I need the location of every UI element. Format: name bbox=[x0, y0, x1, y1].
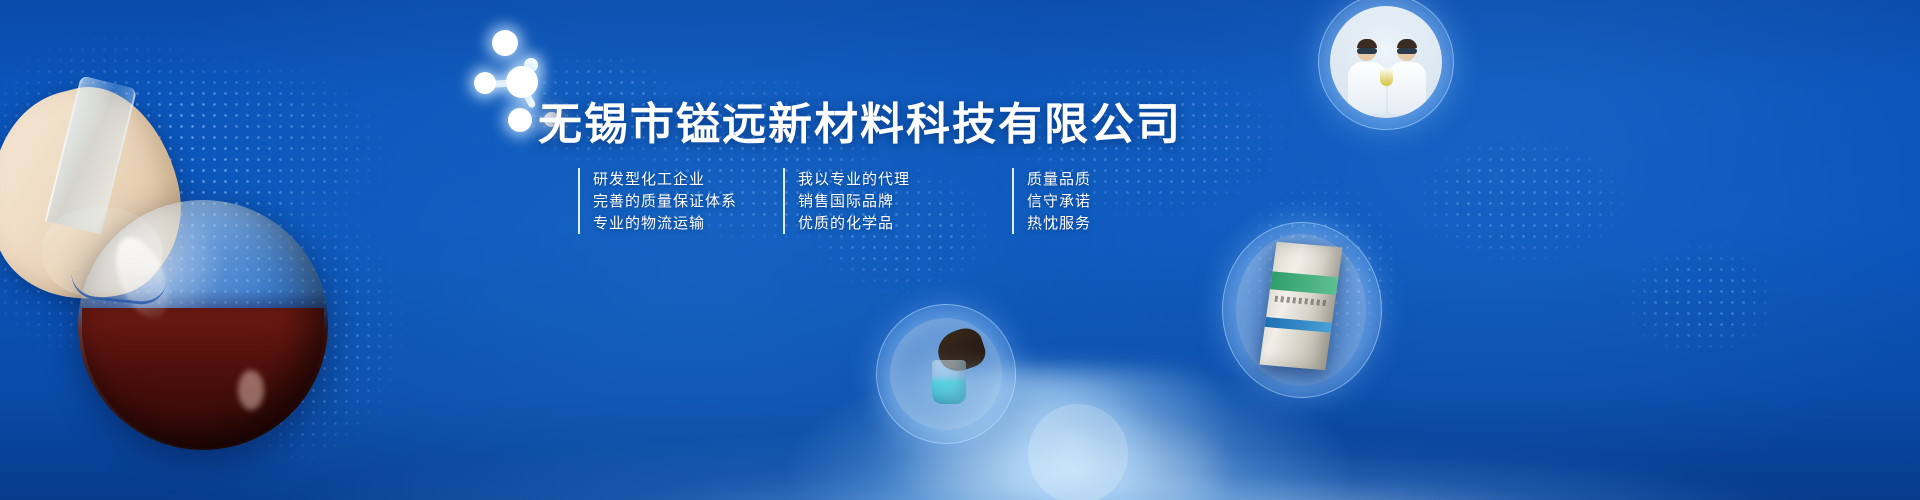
feature-columns: 研发型化工企业 完善的质量保证体系 专业的物流运输 我以专业的代理 销售国际品牌… bbox=[578, 168, 1123, 234]
light-sheen bbox=[880, 370, 1220, 500]
feature-line: 质量品质 bbox=[1027, 168, 1091, 190]
feature-column-2: 我以专业的代理 销售国际品牌 优质的化学品 bbox=[783, 168, 910, 234]
feature-column-3: 质量品质 信守承诺 热忱服务 bbox=[1012, 168, 1091, 234]
feature-line: 信守承诺 bbox=[1027, 190, 1091, 212]
company-banner: 无锡市镒远新材料科技有限公司 研发型化工企业 完善的质量保证体系 专业的物流运输… bbox=[0, 0, 1920, 500]
feature-line: 热忱服务 bbox=[1027, 212, 1091, 234]
feature-line: 研发型化工企业 bbox=[593, 168, 737, 190]
feature-column-1: 研发型化工企业 完善的质量保证体系 专业的物流运输 bbox=[578, 168, 737, 234]
page-title: 无锡市镒远新材料科技有限公司 bbox=[538, 88, 1182, 152]
feature-line: 优质的化学品 bbox=[798, 212, 910, 234]
feature-line: 我以专业的代理 bbox=[798, 168, 910, 190]
package-green-band bbox=[1270, 271, 1338, 295]
feature-line: 销售国际品牌 bbox=[798, 190, 910, 212]
feature-line: 完善的质量保证体系 bbox=[593, 190, 737, 212]
flask-liquid bbox=[82, 308, 324, 448]
package-blue-band bbox=[1265, 317, 1332, 333]
laboratory-flask-photo bbox=[0, 80, 400, 500]
package-label-text bbox=[1274, 296, 1329, 307]
feature-line: 专业的物流运输 bbox=[593, 212, 737, 234]
scientists-photo-bubble bbox=[1330, 6, 1442, 118]
flask-highlight-secondary bbox=[238, 370, 264, 410]
